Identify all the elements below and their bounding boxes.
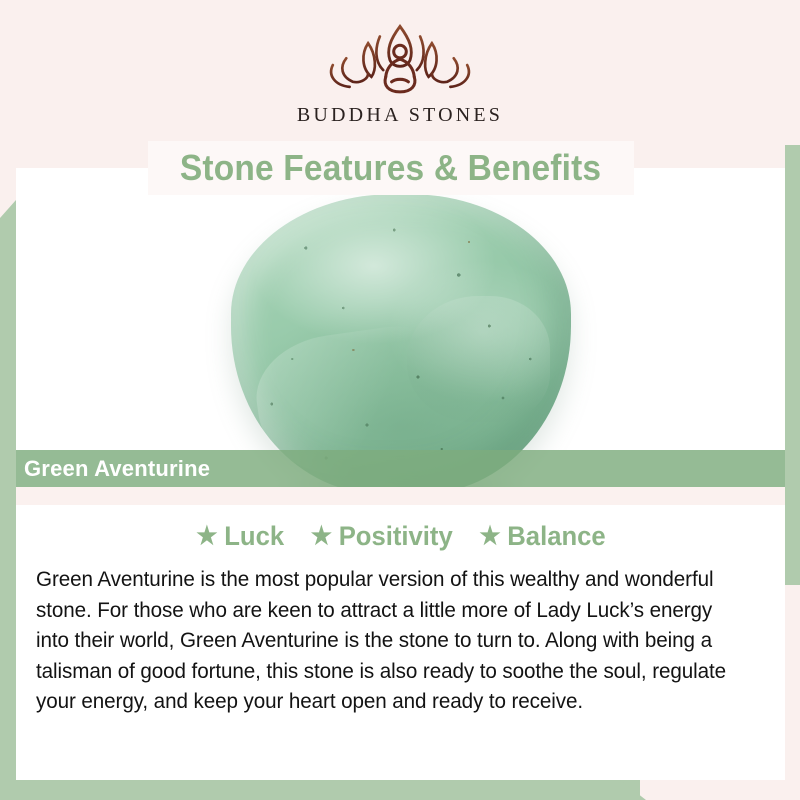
stone-name-label: Green Aventurine	[16, 456, 210, 482]
brand-name: BUDDHA STONES	[297, 104, 503, 127]
benefit-tag-label: Luck	[224, 521, 284, 552]
benefit-tag-label: Balance	[507, 521, 605, 552]
benefit-tag-label: Positivity	[338, 521, 452, 552]
page-title: Stone Features & Benefits	[180, 147, 601, 189]
frame-border-left	[0, 200, 16, 780]
separator-strip	[16, 487, 785, 505]
benefit-tag-balance: ★ Balance	[479, 521, 605, 552]
benefit-tag-positivity: ★ Positivity	[310, 521, 452, 552]
stone-speckle-texture	[231, 194, 571, 488]
infographic-poster: BUDDHA STONES Stone Features & Benefits …	[0, 0, 800, 800]
description-panel: ★ Luck ★ Positivity ★ Balance Green Aven…	[16, 505, 785, 780]
stone-description-text: Green Aventurine is the most popular ver…	[36, 564, 738, 717]
star-icon: ★	[310, 524, 331, 549]
product-image-stage	[16, 168, 785, 488]
page-title-band: Stone Features & Benefits	[148, 141, 634, 195]
stone-name-banner: Green Aventurine	[16, 450, 785, 487]
lotus-meditation-figure-icon	[315, 18, 485, 102]
star-icon: ★	[196, 524, 217, 549]
green-aventurine-stone-image	[231, 194, 571, 488]
benefit-tag-luck: ★ Luck	[196, 521, 284, 552]
star-icon: ★	[479, 524, 500, 549]
benefit-tag-list: ★ Luck ★ Positivity ★ Balance	[36, 521, 767, 552]
frame-border-bottom	[0, 780, 640, 800]
frame-border-right-lower	[785, 455, 800, 585]
brand-header: BUDDHA STONES	[0, 0, 800, 145]
